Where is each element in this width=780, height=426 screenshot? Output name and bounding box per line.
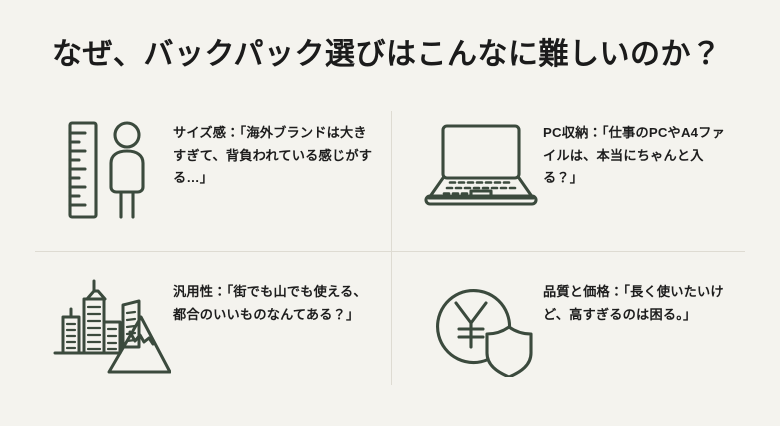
grid-cell-size-text: サイズ感：「海外ブランドは大きすぎて、背負われている感じがする…」 <box>173 114 373 190</box>
grid-cell-quality-price-text: 品質と価格：「長く使いたいけど、高すぎるのは困る。」 <box>543 273 731 326</box>
ruler-and-person-icon <box>49 114 173 222</box>
city-and-mountain-icon <box>49 273 173 377</box>
grid-cell-quality-price: 品質と価格：「長く使いたいけど、高すぎるのは困る。」 <box>391 251 745 392</box>
benefits-grid: サイズ感：「海外ブランドは大きすぎて、背負われている感じがする…」 <box>35 104 745 392</box>
divider-horizontal <box>35 251 745 252</box>
grid-cell-pc-storage: PC収納：「仕事のPCやA4ファイルは、本当にちゃんと入る？」 <box>391 104 745 251</box>
grid-cell-versatility: 汎用性：「街でも山でも使える、都合のいいものなんてある？」 <box>35 251 391 392</box>
slide-root: なぜ、バックパック選びはこんなに難しいのか？ <box>0 0 780 426</box>
yen-coin-and-shield-icon <box>419 273 543 377</box>
page-title: なぜ、バックパック選びはこんなに難しいのか？ <box>52 36 742 74</box>
divider-vertical <box>391 111 392 385</box>
grid-cell-size: サイズ感：「海外ブランドは大きすぎて、背負われている感じがする…」 <box>35 104 391 251</box>
laptop-icon <box>419 114 543 208</box>
grid-cell-pc-storage-text: PC収納：「仕事のPCやA4ファイルは、本当にちゃんと入る？」 <box>543 114 731 190</box>
grid-cell-versatility-text: 汎用性：「街でも山でも使える、都合のいいものなんてある？」 <box>173 273 373 326</box>
